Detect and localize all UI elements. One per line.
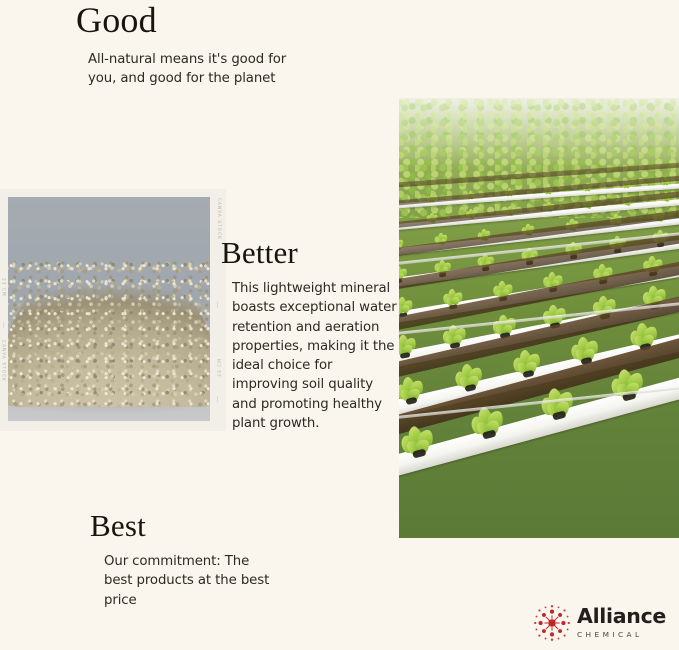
logo-wordmark: Alliance CHEMICAL <box>577 606 673 638</box>
hydroponics-image <box>399 98 679 538</box>
infographic-canvas: Good All-natural means it's good for you… <box>0 0 679 650</box>
ruler-tick <box>3 322 4 328</box>
alliance-chemical-logo: Alliance CHEMICAL <box>533 603 673 645</box>
ruler-label-left-cm: 23 CM <box>2 278 7 297</box>
logo-brand-name: Alliance <box>577 606 673 627</box>
better-body-text: This lightweight mineral boasts exceptio… <box>232 279 398 433</box>
lettuce-plant <box>490 313 515 337</box>
ruler-label-right-cm: 23 CM <box>217 358 222 377</box>
molecule-icon <box>533 604 571 642</box>
frame-edge-top <box>0 190 225 197</box>
ruler-label-left-source: CANVA STOCK <box>2 340 7 382</box>
ruler-tick <box>217 302 218 308</box>
ruler-tick <box>217 396 218 402</box>
better-heading: Better <box>221 237 298 268</box>
vermiculite-granules <box>8 257 210 407</box>
logo-tagline: CHEMICAL <box>577 631 673 638</box>
frame-edge-left <box>0 190 8 430</box>
best-body-text: Our commitment: The best products at the… <box>104 552 280 610</box>
good-heading: Good <box>76 2 157 38</box>
good-body-text: All-natural means it's good for you, and… <box>88 50 288 89</box>
vermiculite-image <box>8 197 210 421</box>
best-heading: Best <box>90 510 146 541</box>
vermiculite-pile <box>8 257 210 407</box>
frame-edge-bottom <box>0 421 225 430</box>
ruler-label-right-source: CANVA STOCK <box>217 198 222 240</box>
vermiculite-photo-frame: 23 CM CANVA STOCK CANVA STOCK 23 CM <box>0 190 225 430</box>
